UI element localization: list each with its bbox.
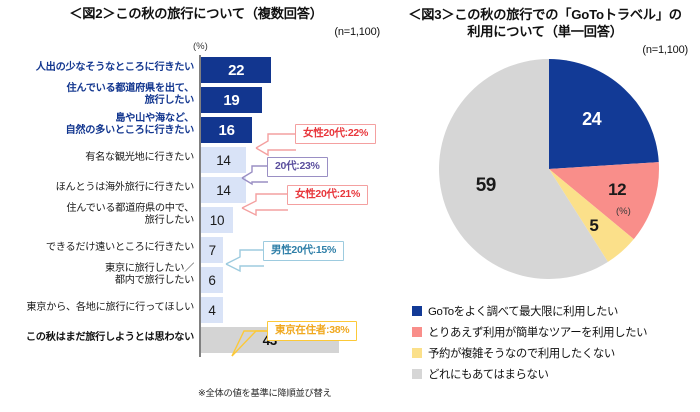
callout-female-20s-21: 女性20代:21% [287,185,368,205]
bar-value-label: 10 [210,213,224,228]
bar-rect: 14 [201,177,246,203]
figure-3-sample-size: (n=1,100) [392,44,688,56]
bar-value-label: 6 [208,273,215,288]
pie-slice-value: 59 [476,175,496,197]
bar-value-label: 7 [209,243,216,258]
legend-label: 予約が複雑そうなので利用したくない [428,345,615,361]
legend-label: GoToをよく調べて最大限に利用したい [428,303,618,319]
figure-2-sample-size: (n=1,100) [0,26,380,38]
bar-row: 住んでいる都道府県の中で、旅行したい10 [0,207,392,233]
bar-row-label: 東京から、各地に旅行に行ってほしい [4,302,194,314]
bar-rect: 19 [201,87,262,113]
legend-swatch-icon [412,369,422,379]
legend-item[interactable]: GoToをよく調べて最大限に利用したい [412,300,700,321]
pie-svg [438,58,660,280]
bar-row-label: 島や山や海など、自然の多いところに行きたい [4,113,194,137]
bar-rect: 16 [201,117,252,143]
bar-rect: 7 [201,237,223,263]
figure-2-unit-label: (%) [193,41,208,52]
figure-2-title: ＜図2＞この秋の旅行について（複数回答） [6,6,386,23]
figure-3-unit-label: (%) [616,206,631,217]
bar-value-label: 19 [223,92,239,109]
legend-label: とりあえず利用が簡単なツアーを利用したい [428,324,647,340]
legend-item[interactable]: とりあえず利用が簡単なツアーを利用したい [412,321,700,342]
bar-value-label: 16 [219,122,235,139]
pie-slice-value: 12 [608,180,626,200]
legend-item[interactable]: どれにもあてはまらない [412,363,700,384]
figure-3-title: ＜図3＞この秋の旅行での「GoToトラベル」の利用について（単一回答） [392,6,698,40]
bar-row: 住んでいる都道府県を出て、旅行したい19 [0,87,392,113]
bar-rect: 14 [201,147,246,173]
figure-2-bar-chart: ＜図2＞この秋の旅行について（複数回答） (n=1,100) (%) 人出の少な… [0,0,392,412]
callout-female-20s-22: 女性20代:22% [295,124,376,144]
bar-value-label: 4 [208,303,215,318]
bar-value-label: 14 [216,153,230,168]
bar-row-label: この秋はまだ旅行しようとは思わない [4,332,194,344]
callout-tokyo-resident-38: 東京在住者:38% [267,321,357,341]
bar-row-label: 住んでいる都道府県を出て、旅行したい [4,83,194,107]
screenshot-root: ＜図2＞この秋の旅行について（複数回答） (n=1,100) (%) 人出の少な… [0,0,700,412]
bar-row: 東京に旅行したい／都内で旅行したい6 [0,267,392,293]
bar-row-label: 住んでいる都道府県の中で、旅行したい [4,203,194,227]
callout-20s-23: 20代:23% [267,157,328,177]
bar-rect: 22 [201,57,271,83]
bar-rect: 10 [201,207,233,233]
pie-slice-value: 5 [589,216,598,236]
bar-row: 有名な観光地に行きたい14 [0,147,392,173]
figure-2-plot-area: 人出の少なそうなところに行きたい22住んでいる都道府県を出て、旅行したい19島や… [0,55,392,355]
legend-item[interactable]: 予約が複雑そうなので利用したくない [412,342,700,363]
bar-row: 人出の少なそうなところに行きたい22 [0,57,392,83]
figure-2-footnote: ※全体の値を基準に降順並び替え [198,385,388,399]
bar-value-label: 14 [216,183,230,198]
figure-3-legend: GoToをよく調べて最大限に利用したいとりあえず利用が簡単なツアーを利用したい予… [412,300,700,384]
bar-row: 東京から、各地に旅行に行ってほしい4 [0,297,392,323]
legend-swatch-icon [412,348,422,358]
bar-row-label: できるだけ遠いところに行きたい [4,242,194,254]
legend-swatch-icon [412,327,422,337]
pie-slice [549,59,659,169]
bar-value-label: 22 [228,62,244,79]
bar-rect: 4 [201,297,223,323]
bar-row-label: ほんとうは海外旅行に行きたい [4,182,194,194]
callout-male-20s-15: 男性20代:15% [263,241,344,261]
legend-swatch-icon [412,306,422,316]
legend-label: どれにもあてはまらない [428,366,548,382]
bar-rect: 6 [201,267,223,293]
pie-slice-value: 24 [582,109,601,130]
bar-row-label: 東京に旅行したい／都内で旅行したい [4,263,194,287]
bar-row-label: 有名な観光地に行きたい [4,152,194,164]
bar-row-label: 人出の少なそうなところに行きたい [4,62,194,74]
pie-graphic: 2412559 [438,58,660,280]
figure-3-pie-chart: ＜図3＞この秋の旅行での「GoToトラベル」の利用について（単一回答） (n=1… [392,0,700,412]
